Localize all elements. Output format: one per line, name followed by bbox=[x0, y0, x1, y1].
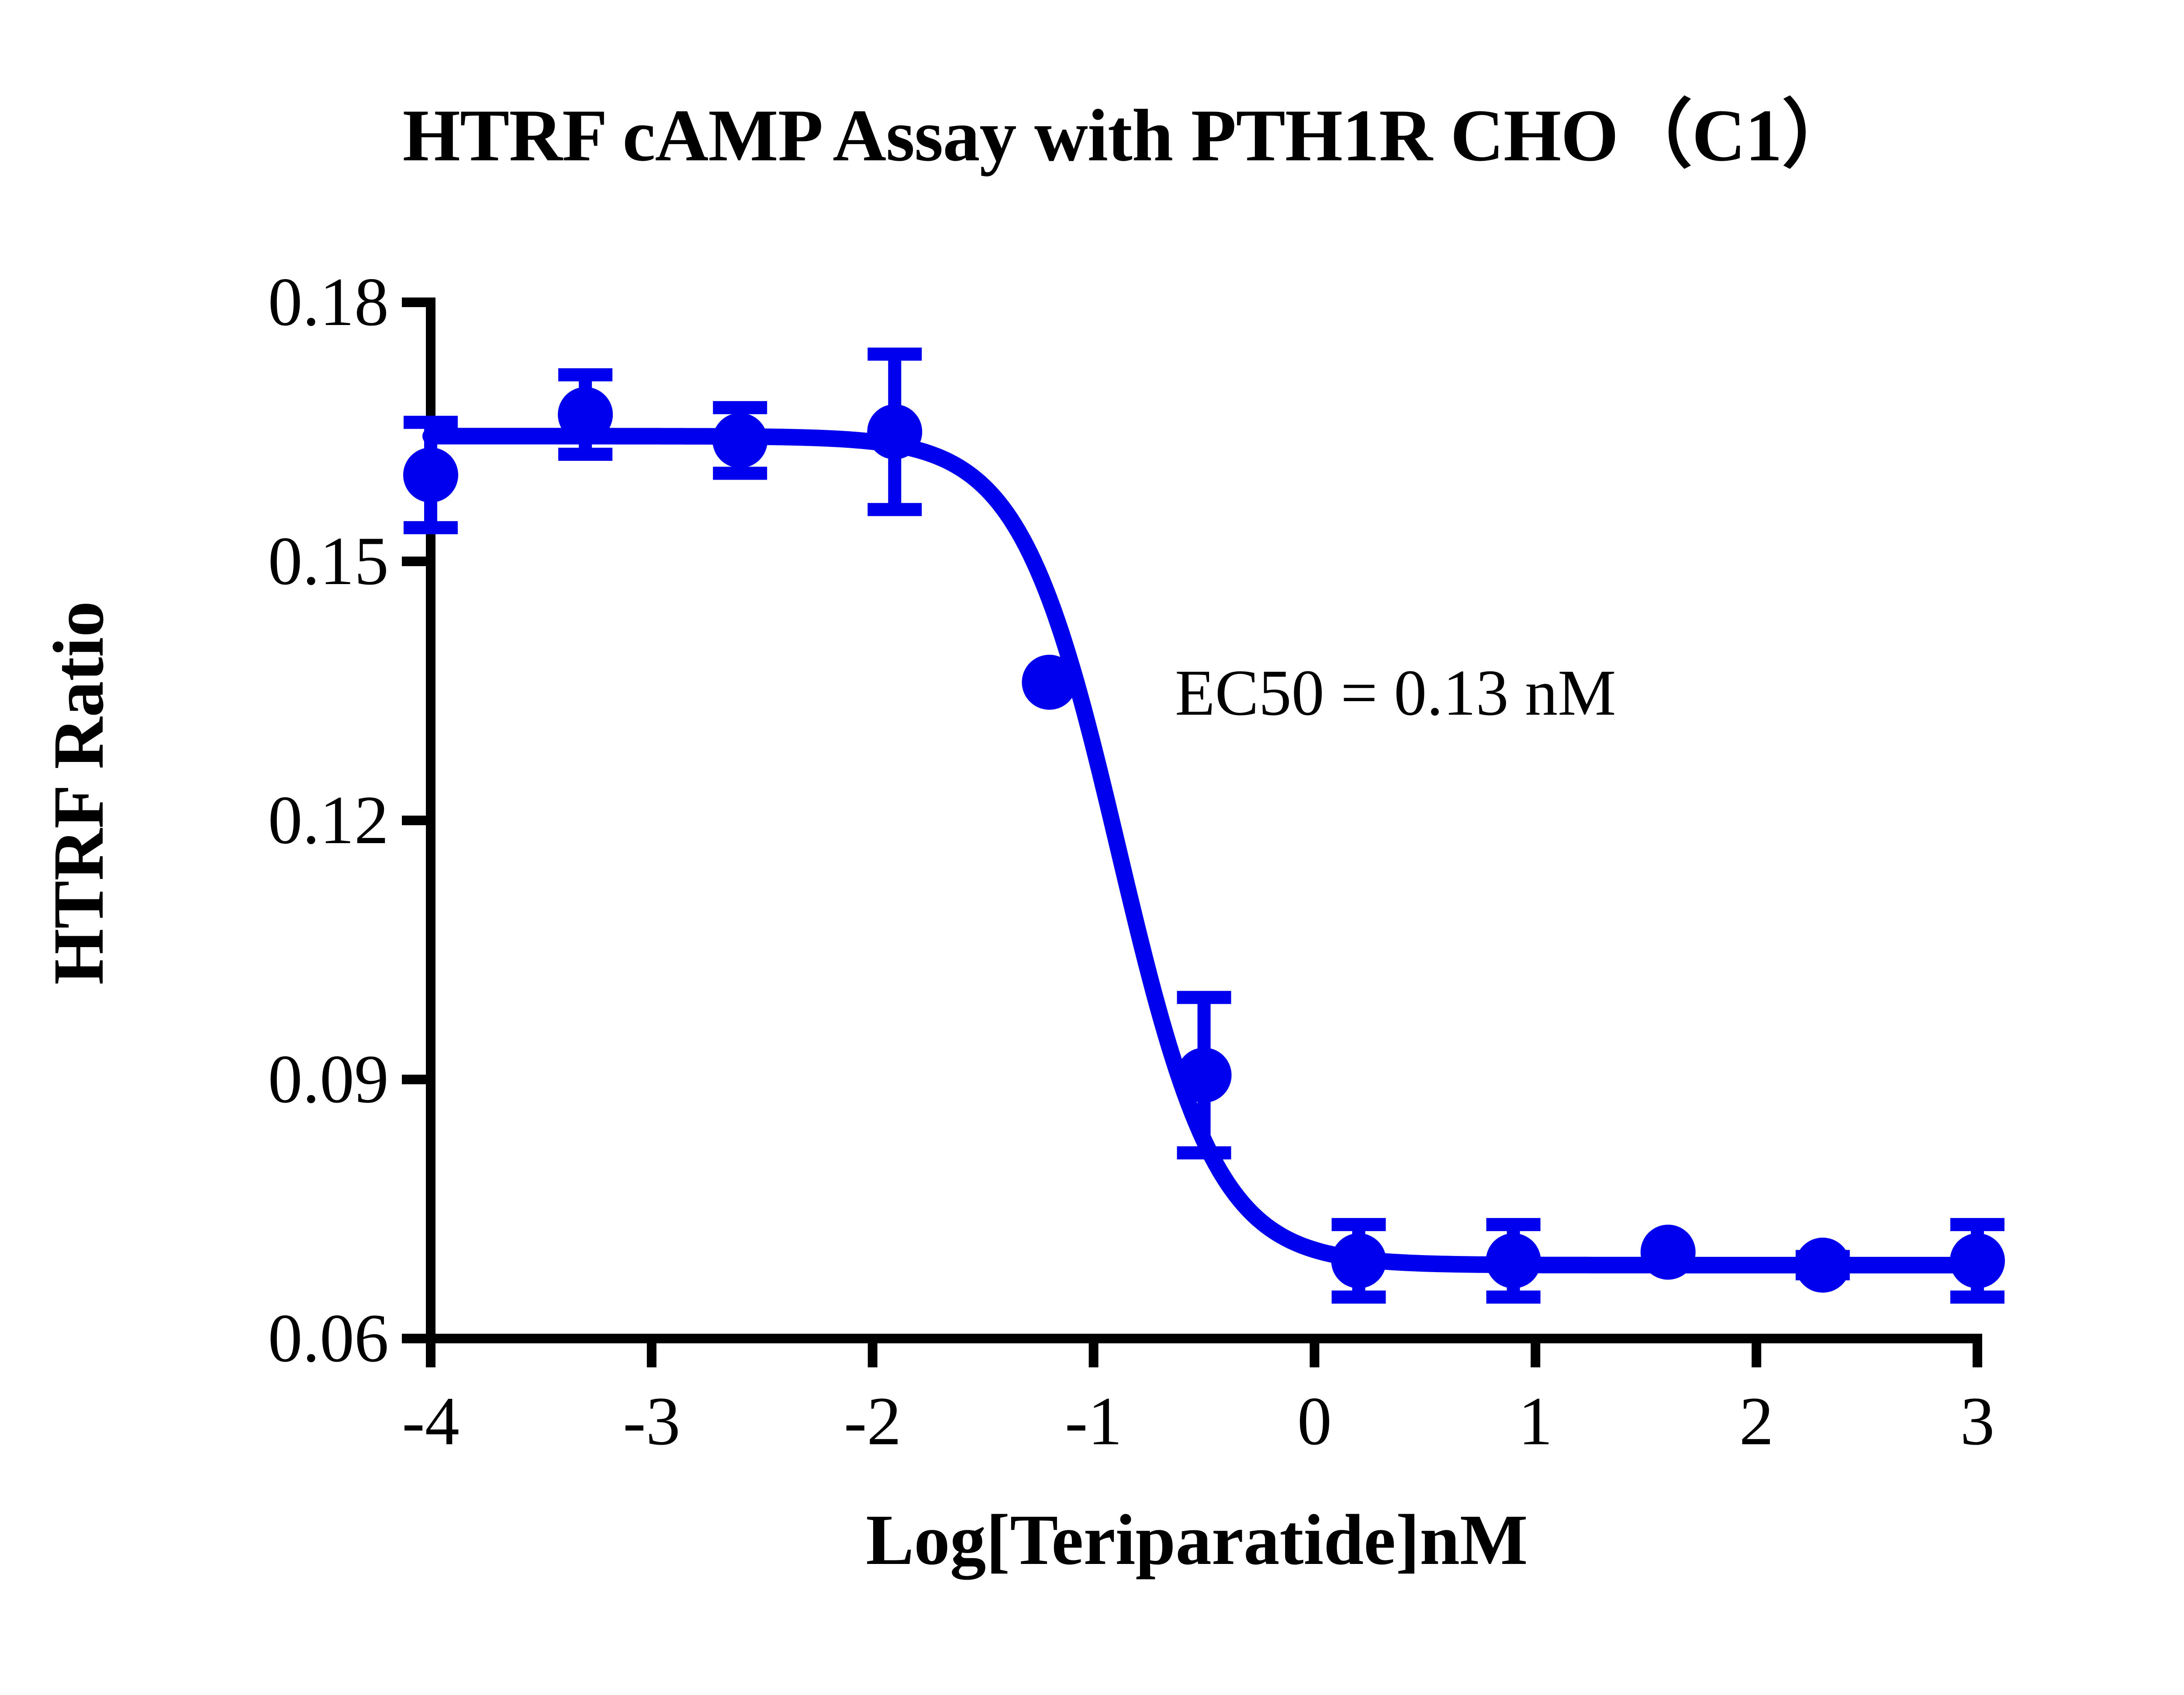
y-axis-title: HTRF Ratio bbox=[37, 487, 120, 1099]
y-tick-label: 0.18 bbox=[144, 268, 389, 337]
data-point-marker bbox=[403, 447, 458, 502]
chart-canvas: HTRF cAMP Assay with PTH1R CHO（C1） 0.060… bbox=[0, 0, 2184, 1695]
x-tick-label: 2 bbox=[1691, 1387, 1822, 1456]
data-point-marker bbox=[1177, 1048, 1232, 1103]
data-point-marker bbox=[1331, 1233, 1386, 1288]
y-tick-label: 0.06 bbox=[144, 1304, 389, 1373]
data-point-marker bbox=[712, 413, 767, 468]
y-tick-label: 0.15 bbox=[144, 527, 389, 596]
x-tick-label: -3 bbox=[586, 1387, 717, 1456]
x-tick-label: -4 bbox=[365, 1387, 496, 1456]
data-series-group bbox=[403, 354, 2005, 1297]
ec50-annotation: EC50 = 0.13 nM bbox=[1175, 655, 1616, 730]
x-tick-label: 3 bbox=[1912, 1387, 2043, 1456]
y-tick-label: 0.09 bbox=[144, 1045, 389, 1114]
data-point-marker bbox=[1022, 655, 1077, 710]
axes-group bbox=[402, 297, 1982, 1367]
data-point-marker bbox=[1641, 1225, 1696, 1280]
data-point-marker bbox=[867, 405, 922, 460]
y-tick-label: 0.12 bbox=[144, 786, 389, 855]
x-axis-title: Log[Teriparatide]nM bbox=[332, 1498, 2062, 1581]
data-point-marker bbox=[1486, 1233, 1541, 1288]
data-point-marker bbox=[1950, 1233, 2005, 1288]
data-point-marker bbox=[1795, 1238, 1850, 1293]
x-tick-label: 0 bbox=[1249, 1387, 1380, 1456]
data-point-marker bbox=[558, 387, 613, 442]
x-tick-label: -1 bbox=[1028, 1387, 1159, 1456]
x-tick-label: -2 bbox=[807, 1387, 938, 1456]
x-tick-label: 1 bbox=[1470, 1387, 1601, 1456]
